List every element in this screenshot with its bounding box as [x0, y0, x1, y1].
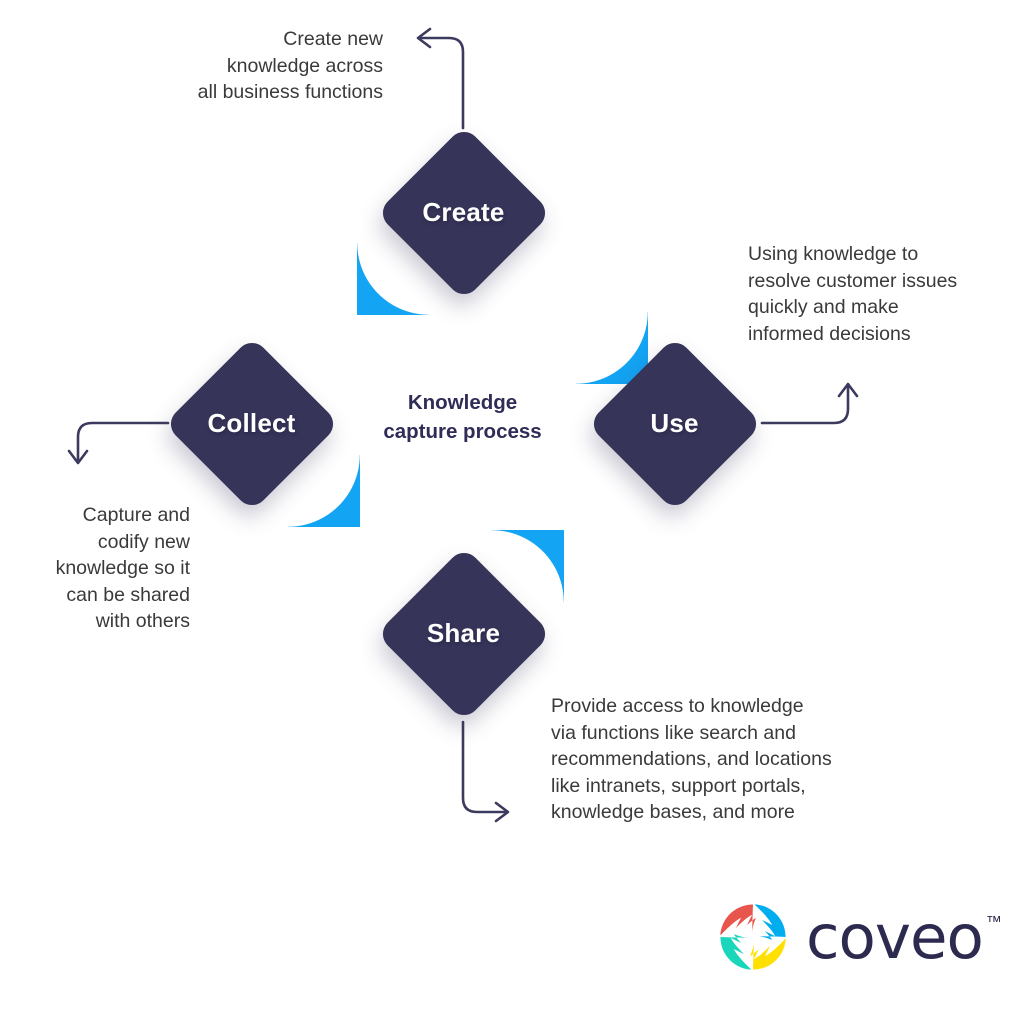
node-create[interactable]: Create	[376, 125, 551, 300]
page-title: Knowledge capture process	[340, 388, 585, 446]
node-create-label: Create	[376, 125, 551, 300]
connector-use	[762, 384, 857, 423]
connector-collect	[69, 423, 168, 463]
caption-create: Create new knowledge across all business…	[110, 26, 383, 106]
caption-share: Provide access to knowledge via function…	[551, 693, 881, 826]
coveo-wordmark: coveo	[806, 907, 983, 968]
connector-create	[418, 29, 463, 128]
caption-collect: Capture and codify new knowledge so it c…	[20, 502, 190, 635]
node-share[interactable]: Share	[376, 546, 551, 721]
logo-quadrant-top-right	[754, 904, 785, 940]
coveo-logo-mark-icon	[716, 900, 790, 974]
node-collect[interactable]: Collect	[164, 336, 339, 511]
connector-share	[463, 722, 508, 821]
caption-use: Using knowledge to resolve customer issu…	[748, 241, 1018, 347]
knowledge-capture-process-diagram: Create Use Collect Share Knowledge captu…	[0, 0, 1024, 1020]
node-share-label: Share	[376, 546, 551, 721]
trademark-symbol: ™	[986, 914, 1002, 932]
coveo-logo: coveo ™	[716, 900, 1002, 974]
node-collect-label: Collect	[164, 336, 339, 511]
logo-quadrant-top-left	[720, 904, 756, 935]
logo-quadrant-bottom-right	[750, 938, 786, 969]
logo-quadrant-bottom-left	[720, 934, 751, 970]
node-use[interactable]: Use	[587, 336, 762, 511]
node-use-label: Use	[587, 336, 762, 511]
